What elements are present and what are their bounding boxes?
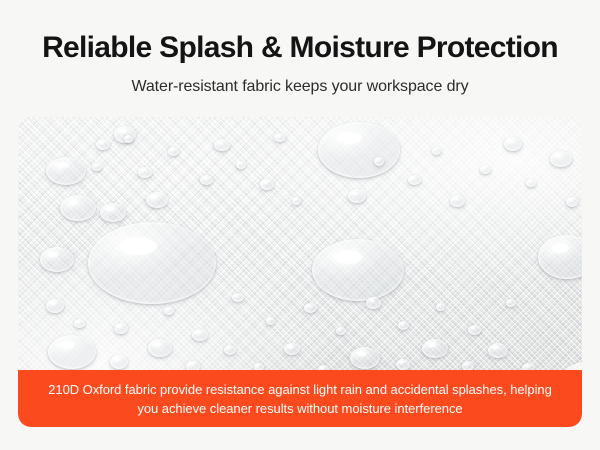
- caption-text: 210D Oxford fabric provide resistance ag…: [40, 380, 560, 418]
- water-droplet: [110, 355, 128, 369]
- water-droplet: [192, 329, 208, 341]
- water-droplet: [398, 321, 409, 330]
- water-droplet: [408, 175, 421, 185]
- water-droplet: [114, 323, 128, 334]
- water-droplet: [318, 122, 400, 178]
- water-droplet: [468, 325, 481, 335]
- water-droplet: [504, 137, 522, 151]
- water-droplet: [146, 192, 168, 208]
- water-droplet: [526, 179, 536, 187]
- page-title: Reliable Splash & Moisture Protection: [18, 0, 582, 67]
- header-block: Reliable Splash & Moisture Protection Wa…: [0, 0, 600, 97]
- water-droplet: [236, 161, 246, 169]
- water-droplet: [148, 339, 172, 357]
- water-droplet: [40, 247, 74, 272]
- water-droplet: [566, 197, 578, 207]
- water-droplet: [396, 359, 410, 370]
- water-droplet: [46, 157, 86, 185]
- caption-bar: 210D Oxford fabric provide resistance ag…: [18, 370, 582, 427]
- water-droplet: [274, 133, 286, 142]
- water-droplet: [312, 239, 404, 301]
- water-droplet: [350, 347, 380, 369]
- water-droplet: [214, 139, 230, 151]
- water-droplet: [336, 327, 346, 335]
- water-droplet: [124, 135, 133, 143]
- water-droplet: [232, 293, 244, 302]
- water-droplet: [538, 235, 582, 279]
- water-droplet: [432, 147, 441, 155]
- product-photo-card: 210D Oxford fabric provide resistance ag…: [18, 117, 582, 427]
- water-droplet: [200, 175, 213, 185]
- water-droplet: [92, 163, 102, 171]
- water-droplet: [480, 165, 491, 174]
- water-droplet: [488, 343, 508, 358]
- water-droplet: [292, 197, 301, 205]
- water-droplet: [138, 167, 152, 178]
- water-droplet: [304, 303, 317, 313]
- water-droplet: [88, 222, 216, 304]
- water-droplet: [74, 319, 85, 328]
- product-feature-banner: Reliable Splash & Moisture Protection Wa…: [0, 0, 600, 450]
- water-droplet: [450, 195, 465, 207]
- water-droplet: [374, 157, 384, 166]
- water-droplet: [48, 335, 96, 369]
- water-droplet: [436, 303, 445, 311]
- water-droplet: [96, 139, 110, 150]
- water-droplet: [284, 343, 300, 355]
- water-droplet: [266, 317, 275, 325]
- water-droplet: [550, 151, 572, 167]
- water-droplet: [164, 307, 174, 315]
- water-droplet: [224, 345, 236, 355]
- subtitle: Water-resistant fabric keeps your worksp…: [18, 67, 582, 97]
- water-droplet: [422, 339, 448, 358]
- water-droplet: [260, 179, 274, 190]
- water-droplet: [60, 195, 96, 221]
- water-droplet: [348, 189, 366, 203]
- water-droplet: [168, 147, 179, 156]
- water-droplet: [100, 203, 126, 222]
- water-droplet: [366, 297, 381, 309]
- water-droplet: [46, 299, 64, 313]
- water-droplet: [506, 299, 516, 307]
